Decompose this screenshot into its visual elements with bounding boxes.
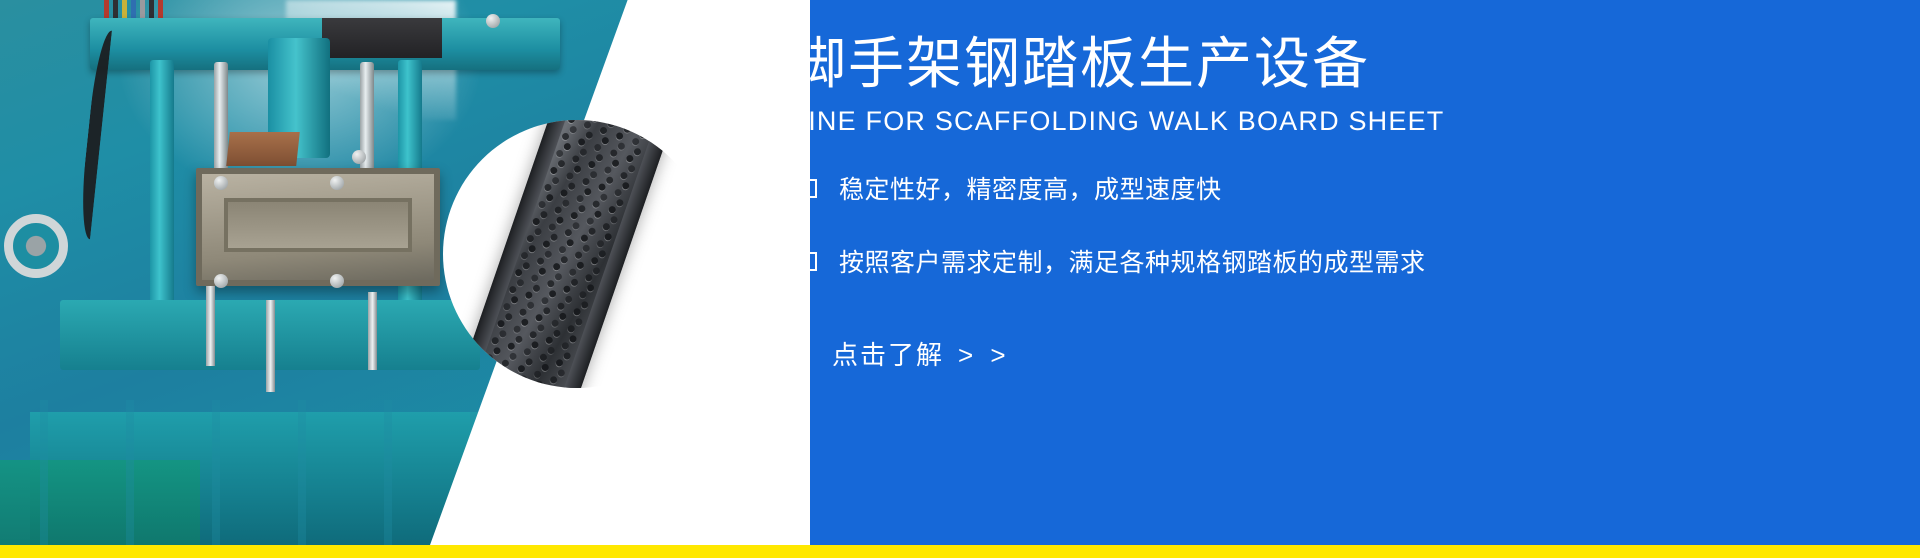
- learn-more-link[interactable]: 点击了解> >: [832, 335, 1011, 372]
- feature-item-1: 稳定性好，精密度高，成型速度快: [798, 170, 1222, 206]
- learn-more-label: 点击了解: [832, 340, 944, 370]
- page-title: 脚手架钢踏板生产设备: [790, 32, 1370, 96]
- checkbox-icon: [798, 252, 817, 271]
- feature-item-2: 按照客户需求定制，满足各种规格钢踏板的成型需求: [798, 243, 1426, 279]
- double-chevron-right-icon: > >: [958, 340, 1011, 370]
- page-subtitle: LINE FOR SCAFFOLDING WALK BOARD SHEET: [792, 106, 1445, 137]
- promo-banner: 脚手架钢踏板生产设备 LINE FOR SCAFFOLDING WALK BOA…: [0, 0, 1920, 558]
- feature-label-1: 稳定性好，精密度高，成型速度快: [839, 170, 1222, 206]
- banner-text-panel: 脚手架钢踏板生产设备 LINE FOR SCAFFOLDING WALK BOA…: [0, 0, 1920, 545]
- checkbox-icon: [798, 179, 817, 198]
- feature-label-2: 按照客户需求定制，满足各种规格钢踏板的成型需求: [839, 243, 1426, 279]
- bottom-accent-strip: [0, 545, 1920, 558]
